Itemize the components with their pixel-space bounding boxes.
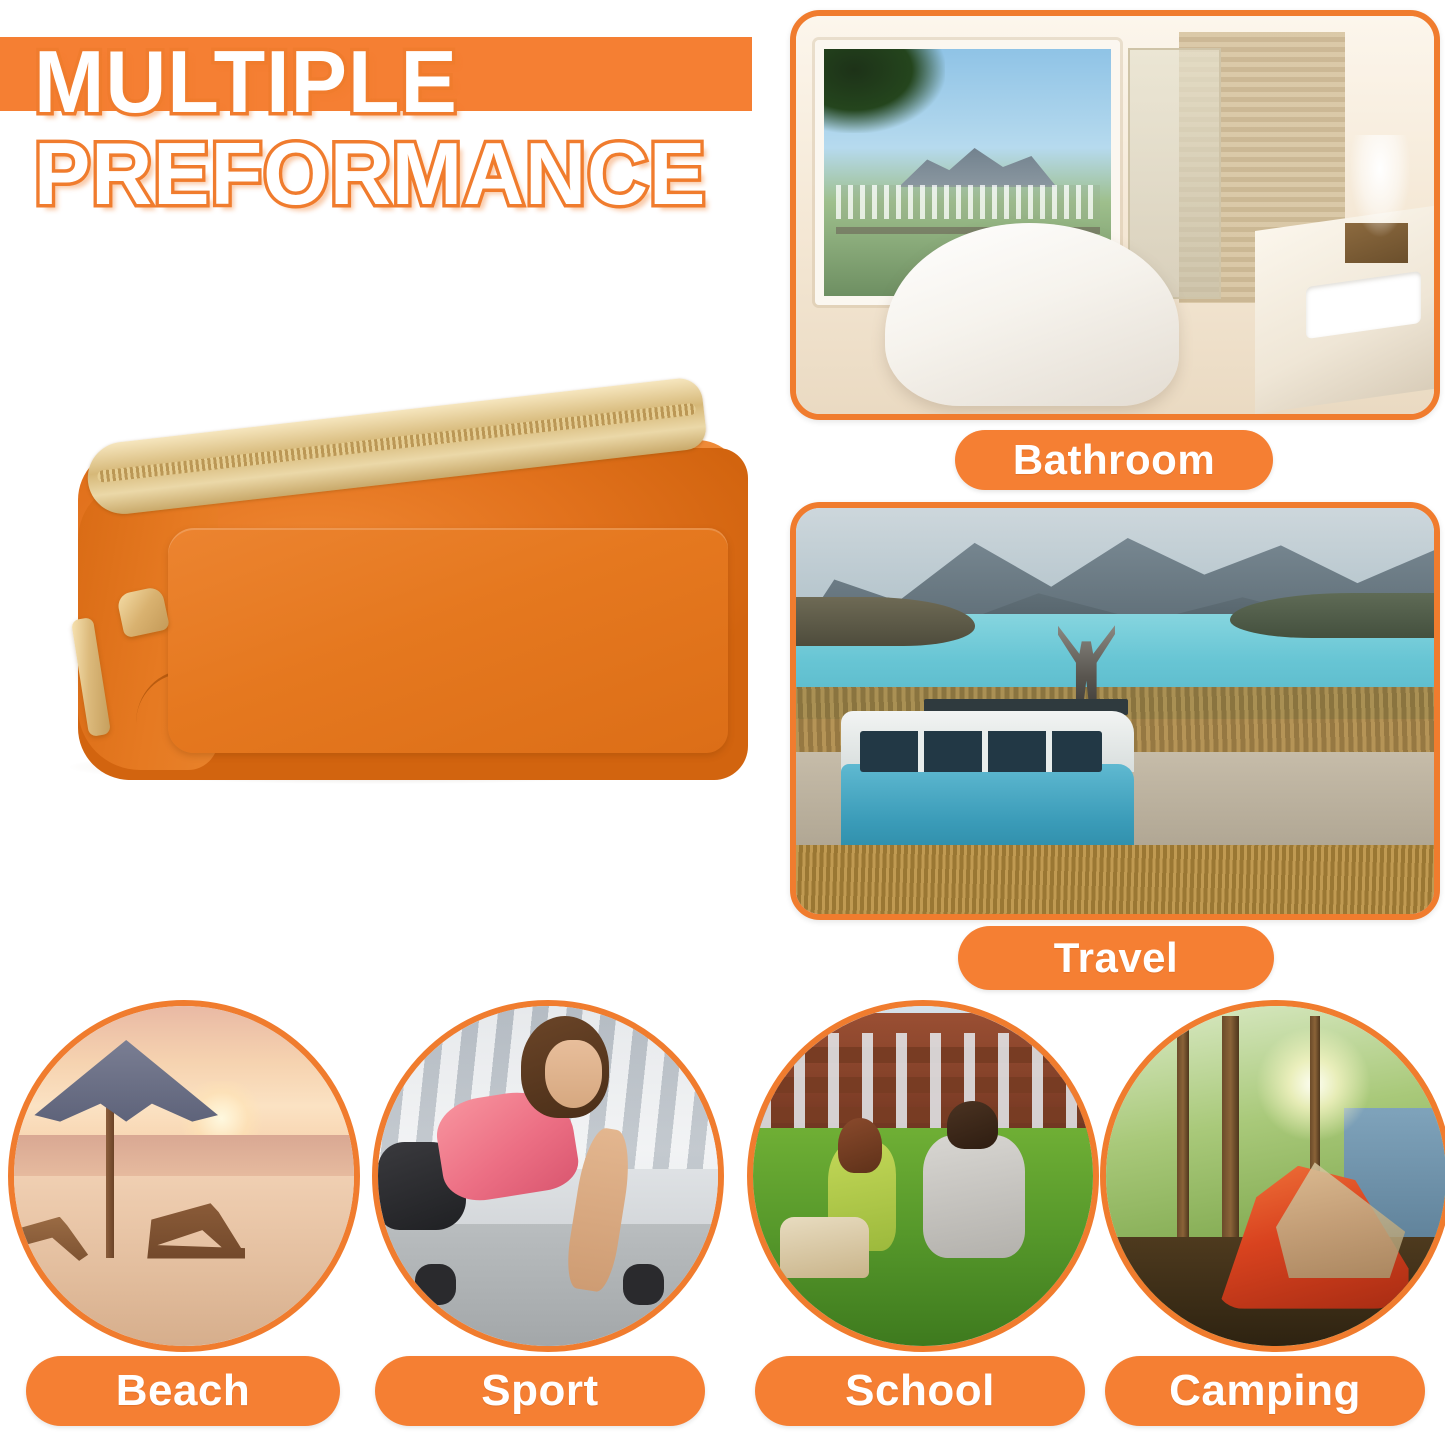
scene-photo-sport — [372, 1000, 724, 1352]
label-school: School — [755, 1356, 1085, 1426]
umbrella-pole — [106, 1094, 114, 1257]
sand — [14, 1176, 354, 1346]
student-girl-hair — [838, 1118, 882, 1172]
scene-photo-beach — [8, 1000, 360, 1352]
student-boy — [923, 1135, 1025, 1257]
scene-photo-camping — [1100, 1000, 1445, 1352]
mountain-view — [899, 143, 1057, 187]
product-infographic: MULTIPLE PREFORMANCE — [0, 0, 1445, 1445]
case-front-panel — [168, 528, 728, 753]
product-image — [20, 410, 780, 840]
headline-line-1: MULTIPLE — [34, 36, 860, 128]
scene-photo-school — [747, 1000, 1099, 1352]
sport-scene — [378, 1006, 718, 1346]
workout-glove-left — [415, 1264, 456, 1305]
workout-glove-right — [623, 1264, 664, 1305]
label-camping: Camping — [1105, 1356, 1425, 1426]
building-windows — [760, 1033, 1086, 1128]
headline-line-2: PREFORMANCE — [34, 128, 860, 220]
camping-scene — [1106, 1006, 1445, 1346]
label-beach: Beach — [26, 1356, 340, 1426]
label-sport: Sport — [375, 1356, 705, 1426]
school-scene — [753, 1006, 1093, 1346]
pencil-case — [58, 440, 748, 790]
van-windows — [860, 731, 1102, 772]
beach-scene — [14, 1006, 354, 1346]
label-bathroom: Bathroom — [955, 430, 1273, 490]
foreground-grass — [796, 845, 1434, 914]
school-bag — [780, 1217, 868, 1278]
label-travel: Travel — [958, 926, 1274, 990]
student-boy-hair — [947, 1101, 998, 1149]
headline: MULTIPLE PREFORMANCE — [34, 36, 894, 220]
scene-photo-travel — [790, 502, 1440, 920]
travel-scene — [796, 508, 1434, 914]
face — [545, 1040, 603, 1108]
orchid-flower — [1345, 135, 1415, 246]
